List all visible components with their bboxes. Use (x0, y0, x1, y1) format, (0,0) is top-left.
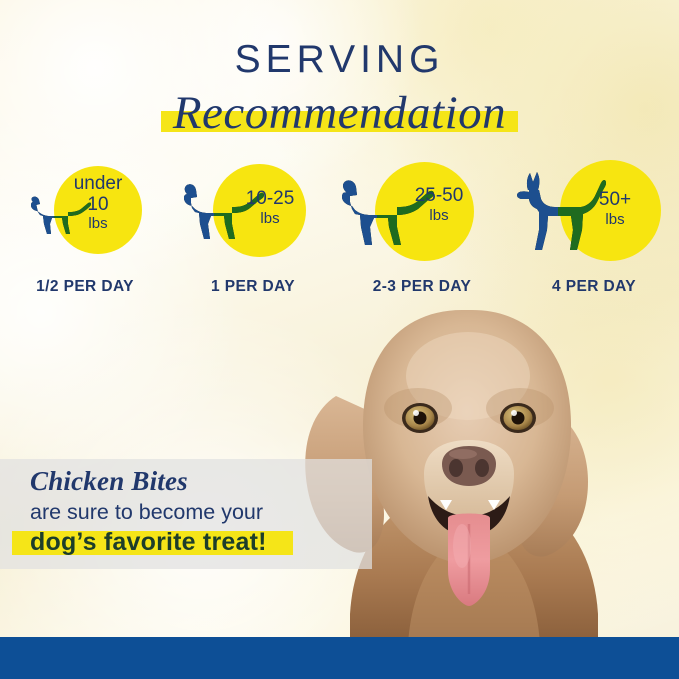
page-title-recommendation: Recommendation (167, 88, 512, 139)
weight-unit: lbs (389, 208, 489, 224)
per-day-label: 4 PER DAY (509, 278, 679, 296)
caption-line-3: dog’s favorite treat! (30, 528, 267, 558)
weight-label: under 10 lbs (50, 174, 146, 232)
caption-line-1: Chicken Bites (30, 466, 370, 496)
per-day-label: 2-3 PER DAY (337, 278, 507, 296)
weight-unit: lbs (50, 216, 146, 232)
per-day-label: 1/2 PER DAY (0, 278, 170, 296)
serving-item-50-plus: 50+ lbs 4 PER DAY (509, 152, 679, 302)
serving-item-25-50: 25-50 lbs 2-3 PER DAY (337, 152, 507, 302)
header: SERVING Recommendation (0, 0, 679, 139)
serving-item-10-25: 10-25 lbs 1 PER DAY (168, 152, 338, 302)
page-title-recommendation-wrap: Recommendation (167, 88, 512, 139)
bottom-brand-bar (0, 637, 679, 679)
caption: Chicken Bites are sure to become your do… (30, 466, 370, 558)
weight-line-2: 10 (50, 195, 146, 216)
weight-unit: lbs (575, 212, 655, 228)
caption-line-3-wrap: dog’s favorite treat! (30, 528, 267, 558)
caption-line-2: are sure to become your (30, 499, 370, 525)
per-day-label: 1 PER DAY (168, 278, 338, 296)
weight-line-1: 25-50 (389, 186, 489, 207)
weight-line-1: under (50, 174, 146, 195)
weight-line-1: 10-25 (225, 189, 315, 210)
weight-line-1: 50+ (575, 190, 655, 211)
serving-sizes-row: under 10 lbs 1/2 PER DAY (0, 152, 679, 302)
weight-unit: lbs (225, 211, 315, 227)
weight-label: 10-25 lbs (225, 189, 315, 227)
serving-item-under-10: under 10 lbs 1/2 PER DAY (0, 152, 170, 302)
page-title-serving: SERVING (0, 40, 679, 79)
weight-label: 25-50 lbs (389, 186, 489, 224)
weight-label: 50+ lbs (575, 190, 655, 228)
serving-recommendation-card: SERVING Recommendation (0, 0, 679, 679)
